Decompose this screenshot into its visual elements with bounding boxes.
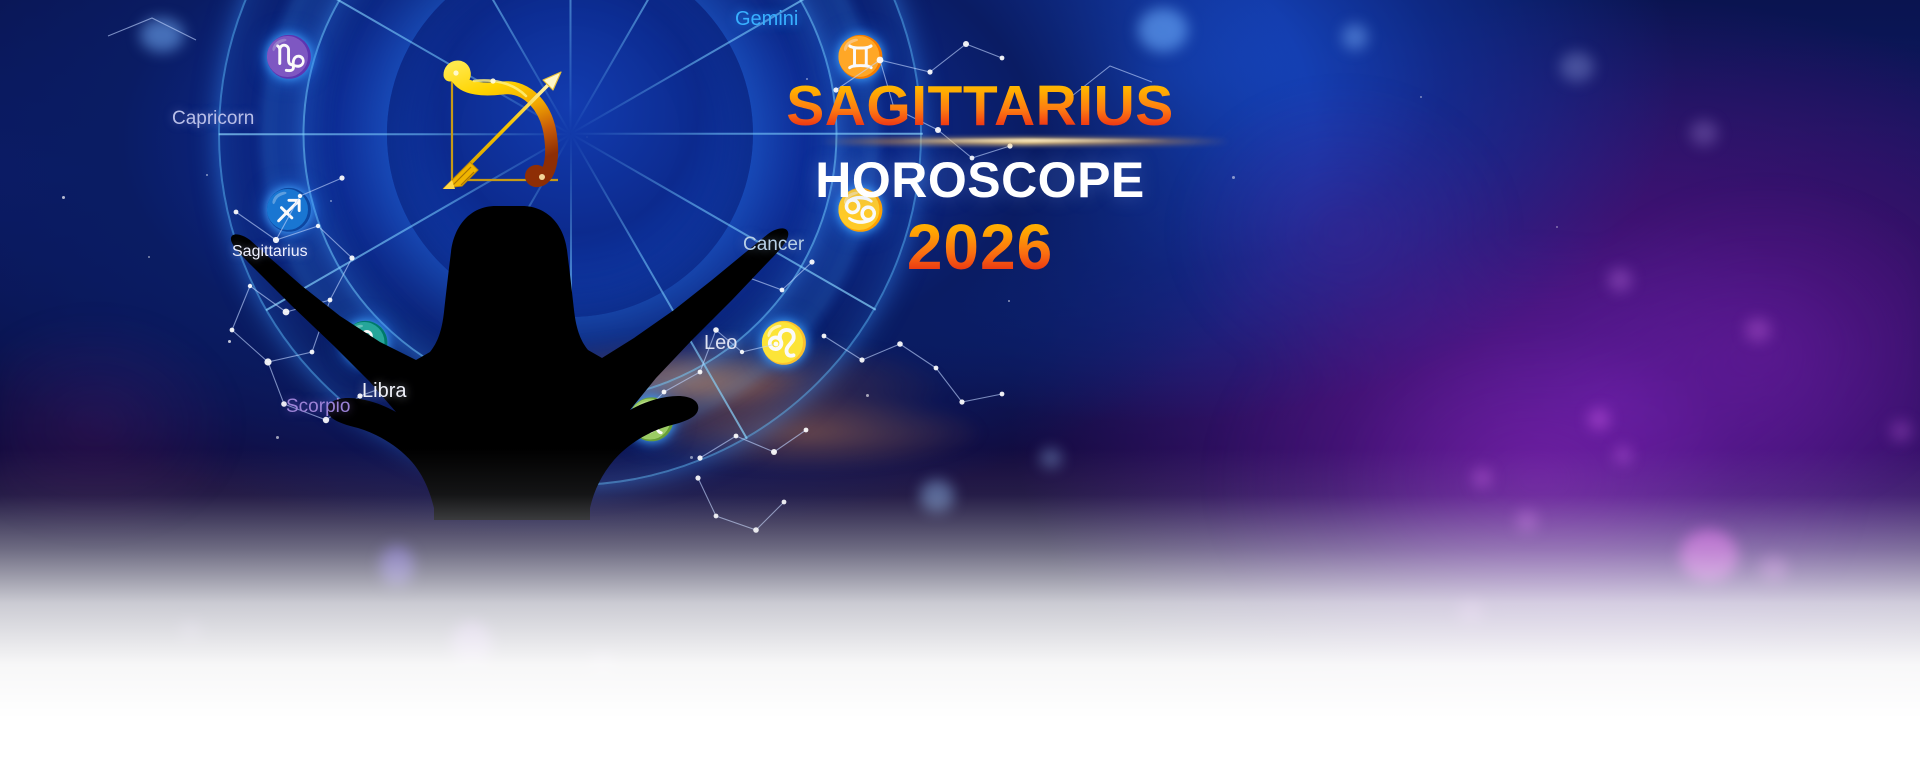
page-title-sign: SAGITTARIUS (780, 78, 1180, 135)
label-capricorn: Capricorn (172, 108, 254, 130)
label-sagittarius: Sagittarius (232, 243, 308, 261)
label-gemini: Gemini (735, 8, 798, 31)
label-scorpio: Scorpio (286, 396, 350, 418)
label-libra: Libra (362, 380, 406, 403)
horoscope-banner: ♈♉♊♋♌♍♎♏♐♑♒♓ (0, 0, 1920, 773)
woman-silhouette (230, 190, 790, 520)
label-leo: Leo (704, 332, 737, 355)
title-block: SAGITTARIUS HOROSCOPE 2026 (780, 78, 1180, 279)
page-title-kind: HOROSCOPE (780, 155, 1180, 205)
page-title-year: 2026 (780, 215, 1180, 279)
bow-and-arrow-icon (430, 48, 580, 208)
title-light-streak-core (900, 139, 1170, 142)
